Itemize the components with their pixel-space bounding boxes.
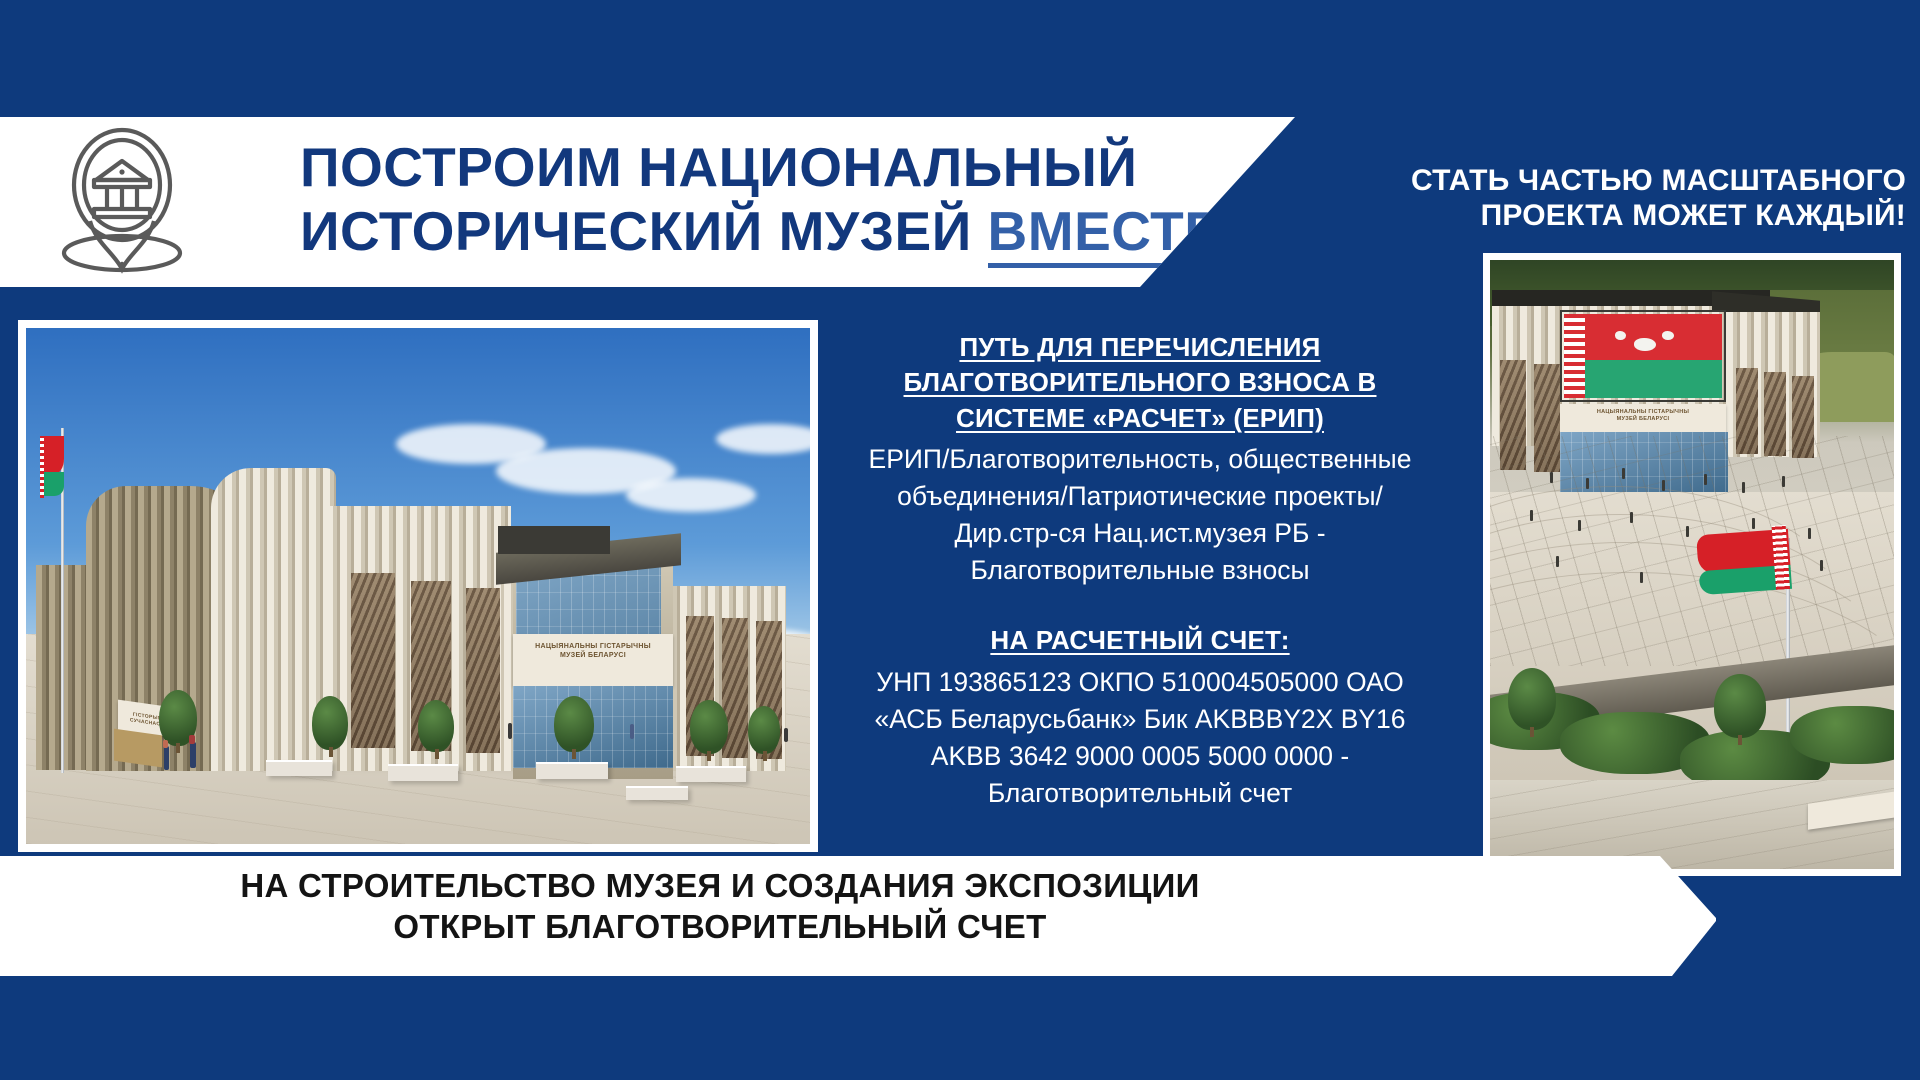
erip-heading: ПУТЬ ДЛЯ ПЕРЕЧИСЛЕНИЯ БЛАГОТВОРИТЕЛЬНОГО… [830, 330, 1450, 436]
footer-line-1: НА СТРОИТЕЛЬСТВО МУЗЕЯ И СОЗДАНИЯ ЭКСПОЗ… [0, 866, 1440, 907]
erip-heading-line-3: СИСТЕМЕ «РАСЧЕТ» (ЕРИП) [956, 403, 1324, 433]
page-title: ПОСТРОИМ НАЦИОНАЛЬНЫЙ ИСТОРИЧЕСКИЙ МУЗЕЙ… [300, 135, 1300, 264]
erip-path-line-3: Дир.стр-ся Нац.ист.музея РБ - [830, 515, 1450, 552]
tagline: СТАТЬ ЧАСТЬЮ МАСШТАБНОГО ПРОЕКТА МОЖЕТ К… [1346, 163, 1906, 234]
left-render-building-sign: НАЦЫЯНАЛЬНЫ ГІСТАРЫЧНЫ МУЗЕЙ БЕЛАРУСІ [513, 643, 673, 661]
erip-path-line-2: объединения/Патриотические проекты/ [830, 478, 1450, 515]
tagline-line-1: СТАТЬ ЧАСТЬЮ МАСШТАБНОГО [1346, 163, 1906, 198]
erip-heading-line-1: ПУТЬ ДЛЯ ПЕРЕЧИСЛЕНИЯ [959, 332, 1320, 362]
museum-front-render: НАЦЫЯНАЛЬНЫ ГІСТАРЫЧНЫ МУЗЕЙ БЕЛАРУСІ ГІ… [18, 320, 818, 852]
headline-line-1: ПОСТРОИМ НАЦИОНАЛЬНЫЙ [300, 135, 1300, 199]
footer-text: НА СТРОИТЕЛЬСТВО МУЗЕЯ И СОЗДАНИЯ ЭКСПОЗ… [0, 866, 1440, 948]
account-heading: НА РАСЧЕТНЫЙ СЧЕТ: [830, 623, 1450, 658]
poster-root: ПОСТРОИМ НАЦИОНАЛЬНЫЙ ИСТОРИЧЕСКИЙ МУЗЕЙ… [0, 0, 1920, 1080]
top-banner: ПОСТРОИМ НАЦИОНАЛЬНЫЙ ИСТОРИЧЕСКИЙ МУЗЕЙ… [0, 117, 1330, 287]
museum-plaza-aerial-render: НАЦЫЯНАЛЬНЫ ГІСТАРЫЧНЫ МУЗЕЙ БЕЛАРУСІ [1483, 253, 1901, 876]
right-render-building-sign: НАЦЫЯНАЛЬНЫ ГІСТАРЫЧНЫ МУЗЕЙ БЕЛАРУСІ [1560, 409, 1726, 423]
museum-map-pin-icon [52, 125, 192, 275]
account-line-3: AKBB 3642 9000 0005 5000 0000 - [830, 738, 1450, 775]
account-line-4: Благотворительный счет [830, 775, 1450, 812]
erip-path-line-4: Благотворительные взносы [830, 552, 1450, 589]
erip-path: ЕРИП/Благотворительность, общественные о… [830, 441, 1450, 589]
payment-info: ПУТЬ ДЛЯ ПЕРЕЧИСЛЕНИЯ БЛАГОТВОРИТЕЛЬНОГО… [830, 330, 1450, 812]
headline-prefix: ИСТОРИЧЕСКИЙ МУЗЕЙ [300, 200, 988, 262]
account-heading-text: НА РАСЧЕТНЫЙ СЧЕТ: [990, 625, 1289, 655]
erip-path-line-1: ЕРИП/Благотворительность, общественные [830, 441, 1450, 478]
headline-exclamation: ! [1221, 200, 1240, 262]
headline-accent-vmeste: ВМЕСТЕ [988, 200, 1222, 268]
tagline-line-2: ПРОЕКТА МОЖЕТ КАЖДЫЙ! [1346, 198, 1906, 233]
account-line-1: УНП 193865123 ОКПО 510004505000 ОАО [830, 664, 1450, 701]
headline-line-2: ИСТОРИЧЕСКИЙ МУЗЕЙ ВМЕСТЕ! [300, 199, 1300, 263]
footer-line-2: ОТКРЫТ БЛАГОТВОРИТЕЛЬНЫЙ СЧЕТ [0, 907, 1440, 948]
account-line-2: «АСБ Беларусьбанк» Бик AKBBBY2X BY16 [830, 701, 1450, 738]
erip-heading-line-2: БЛАГОТВОРИТЕЛЬНОГО ВЗНОСА В [904, 367, 1377, 397]
account-details: УНП 193865123 ОКПО 510004505000 ОАО «АСБ… [830, 664, 1450, 812]
